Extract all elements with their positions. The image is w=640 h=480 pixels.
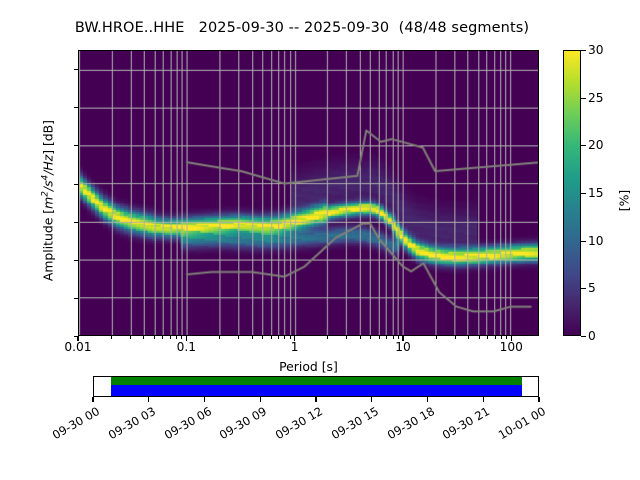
y-tick-mark bbox=[74, 260, 78, 261]
timeline-tick-mark bbox=[204, 397, 205, 402]
timeline-tick-mark bbox=[371, 397, 372, 402]
colorbar-tick-label: 15 bbox=[588, 186, 604, 200]
x-minor-tick-mark bbox=[219, 336, 220, 339]
x-minor-tick-mark bbox=[468, 336, 469, 339]
x-tick-label: 0.01 bbox=[64, 340, 91, 354]
x-minor-tick-mark bbox=[176, 336, 177, 339]
timeline-tick-label: 09-30 18 bbox=[378, 404, 437, 446]
colorbar-tick-mark bbox=[581, 336, 586, 337]
y-tick-mark bbox=[74, 222, 78, 223]
x-minor-tick-mark bbox=[278, 336, 279, 339]
x-minor-tick-mark bbox=[111, 336, 112, 339]
x-minor-tick-mark bbox=[170, 336, 171, 339]
y-axis-label-prefix: Amplitude [ bbox=[41, 209, 56, 281]
x-minor-tick-mark bbox=[154, 336, 155, 339]
colorbar-tick-mark bbox=[581, 193, 586, 194]
x-minor-tick-mark bbox=[346, 336, 347, 339]
colorbar-label: [%] bbox=[617, 161, 632, 241]
x-tick-label: 0.1 bbox=[177, 340, 196, 354]
x-minor-tick-mark bbox=[501, 336, 502, 339]
colorbar-tick-label: 20 bbox=[588, 138, 604, 152]
x-minor-tick-mark bbox=[495, 336, 496, 339]
timeline-tick-mark bbox=[538, 397, 539, 402]
x-minor-tick-mark bbox=[143, 336, 144, 339]
y-tick-mark bbox=[74, 69, 78, 70]
x-tick-label: 10 bbox=[395, 340, 411, 354]
colorbar-tick-mark bbox=[581, 50, 586, 51]
ppsd-plot-area bbox=[78, 50, 539, 336]
x-minor-tick-mark bbox=[271, 336, 272, 339]
y-tick-mark bbox=[74, 145, 78, 146]
y-axis-label-units: m2/s4/Hz bbox=[41, 155, 56, 209]
x-minor-tick-mark bbox=[360, 336, 361, 339]
colorbar bbox=[563, 50, 581, 336]
x-minor-tick-mark bbox=[487, 336, 488, 339]
x-axis-label: Period [s] bbox=[78, 359, 539, 374]
x-minor-tick-mark bbox=[436, 336, 437, 339]
colorbar-tick-mark bbox=[581, 145, 586, 146]
coverage-bar-green bbox=[111, 377, 522, 385]
timeline-tick-label: 09-30 00 bbox=[43, 404, 102, 446]
x-minor-tick-mark bbox=[455, 336, 456, 339]
timeline-tick-mark bbox=[483, 397, 484, 402]
x-minor-tick-mark bbox=[479, 336, 480, 339]
x-minor-tick-mark bbox=[386, 336, 387, 339]
ppsd-figure: BW.HROE..HHE 2025-09-30 -- 2025-09-30 (4… bbox=[0, 0, 640, 480]
page-title: BW.HROE..HHE 2025-09-30 -- 2025-09-30 (4… bbox=[0, 20, 604, 36]
x-minor-tick-mark bbox=[379, 336, 380, 339]
timeline-tick-label: 09-30 15 bbox=[322, 404, 381, 446]
timeline-tick-label: 09-30 12 bbox=[266, 404, 325, 446]
timeline-tick-label: 09-30 21 bbox=[433, 404, 492, 446]
y-axis-label: Amplitude [m2/s4/Hz] [dB] bbox=[40, 71, 55, 331]
colorbar-tick-mark bbox=[581, 241, 586, 242]
x-minor-tick-mark bbox=[130, 336, 131, 339]
coverage-bar-blue bbox=[111, 385, 522, 397]
timeline-tick-mark bbox=[92, 397, 93, 402]
x-tick-label: 1 bbox=[291, 340, 299, 354]
colorbar-tick-mark bbox=[581, 98, 586, 99]
x-minor-tick-mark bbox=[238, 336, 239, 339]
y-tick-mark bbox=[74, 298, 78, 299]
timeline-tick-label: 10-01 00 bbox=[489, 404, 548, 446]
coverage-timeline bbox=[93, 376, 539, 397]
colorbar-tick-mark bbox=[581, 288, 586, 289]
y-tick-mark bbox=[74, 107, 78, 108]
timeline-tick-mark bbox=[427, 397, 428, 402]
colorbar-tick-label: 5 bbox=[588, 281, 596, 295]
colorbar-tick-label: 30 bbox=[588, 43, 604, 57]
y-axis-label-suffix: ] [dB] bbox=[41, 120, 56, 155]
x-minor-tick-mark bbox=[506, 336, 507, 339]
y-tick-mark bbox=[74, 184, 78, 185]
x-minor-tick-mark bbox=[290, 336, 291, 339]
timeline-tick-label: 09-30 03 bbox=[99, 404, 158, 446]
x-tick-label: 100 bbox=[500, 340, 523, 354]
timeline-tick-label: 09-30 09 bbox=[210, 404, 269, 446]
x-minor-tick-mark bbox=[327, 336, 328, 339]
timeline-tick-mark bbox=[148, 397, 149, 402]
ppsd-density-canvas bbox=[79, 51, 538, 335]
x-minor-tick-mark bbox=[393, 336, 394, 339]
x-minor-tick-mark bbox=[162, 336, 163, 339]
x-minor-tick-mark bbox=[181, 336, 182, 339]
timeline-tick-mark bbox=[315, 397, 316, 402]
colorbar-tick-label: 25 bbox=[588, 91, 604, 105]
x-minor-tick-mark bbox=[262, 336, 263, 339]
x-minor-tick-mark bbox=[398, 336, 399, 339]
colorbar-tick-label: 0 bbox=[588, 329, 596, 343]
timeline-tick-label: 09-30 06 bbox=[155, 404, 214, 446]
timeline-tick-mark bbox=[260, 397, 261, 402]
x-minor-tick-mark bbox=[370, 336, 371, 339]
colorbar-tick-label: 10 bbox=[588, 234, 604, 248]
x-minor-tick-mark bbox=[284, 336, 285, 339]
x-minor-tick-mark bbox=[252, 336, 253, 339]
